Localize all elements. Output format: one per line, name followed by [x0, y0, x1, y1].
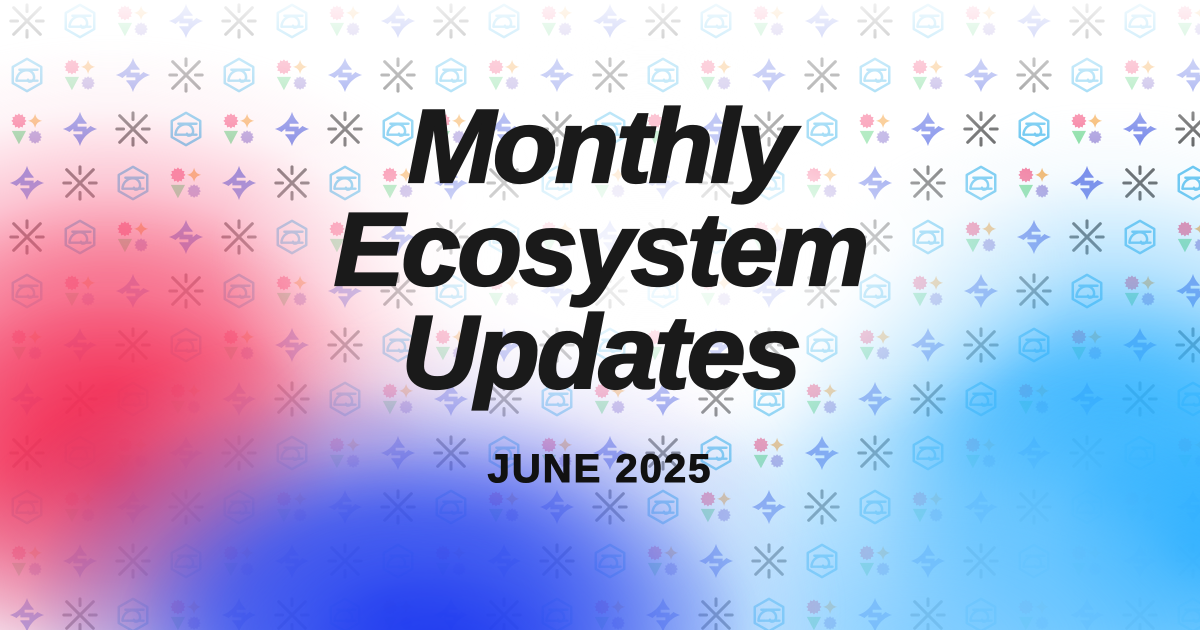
hexagon-swirl-icon: [220, 488, 258, 526]
pattern-cell: [1166, 318, 1200, 372]
diamond-arrows-icon: [114, 488, 152, 526]
asterisk-burst-icon: [220, 2, 258, 40]
pattern-cell: [954, 318, 1007, 372]
pattern-cell: [583, 426, 636, 480]
pattern-row: [0, 102, 1200, 156]
asterisk-burst-icon: [591, 272, 629, 310]
shape-cluster-icon: [1174, 218, 1200, 256]
diamond-arrows-icon: [1174, 56, 1200, 94]
diamond-arrows-icon: [432, 164, 470, 202]
shape-cluster-icon: [61, 56, 99, 94]
shape-cluster-icon: [379, 380, 417, 418]
hexagon-swirl-icon: [1015, 110, 1053, 148]
hexagon-swirl-icon: [909, 2, 947, 40]
pattern-row: [0, 534, 1200, 588]
diamond-arrows-icon: [1015, 434, 1053, 472]
shape-cluster-icon: [856, 326, 894, 364]
diamond-arrows-icon: [114, 56, 152, 94]
shape-cluster-icon: [591, 164, 629, 202]
shape-cluster-icon: [379, 164, 417, 202]
pattern-cell: [742, 588, 795, 630]
pattern-cell: [689, 48, 742, 102]
diamond-arrows-icon: [591, 434, 629, 472]
pattern-cell: [477, 588, 530, 630]
pattern-cell: [424, 156, 477, 210]
diamond-arrows-icon: [1068, 380, 1106, 418]
hexagon-swirl-icon: [485, 218, 523, 256]
asterisk-burst-icon: [750, 542, 788, 580]
pattern-cell: [212, 156, 265, 210]
pattern-cell: [477, 264, 530, 318]
pattern-cell: [636, 264, 689, 318]
pattern-cell: [1060, 156, 1113, 210]
asterisk-burst-icon: [856, 434, 894, 472]
asterisk-burst-icon: [644, 2, 682, 40]
asterisk-burst-icon: [326, 110, 364, 148]
shape-cluster-icon: [856, 110, 894, 148]
hexagon-swirl-icon: [750, 164, 788, 202]
diamond-arrows-icon: [909, 326, 947, 364]
shape-cluster-icon: [909, 488, 947, 526]
asterisk-burst-icon: [485, 380, 523, 418]
shape-cluster-icon: [591, 596, 629, 630]
pattern-cell: [1166, 0, 1200, 48]
shape-cluster-icon: [220, 326, 258, 364]
pattern-cell: [265, 318, 318, 372]
pattern-cell: [371, 588, 424, 630]
pattern-cell: [636, 0, 689, 48]
pattern-cell: [318, 156, 371, 210]
pattern-cell: [0, 534, 53, 588]
hexagon-swirl-icon: [61, 218, 99, 256]
shape-cluster-icon: [538, 218, 576, 256]
pattern-cell: [371, 0, 424, 48]
diamond-arrows-icon: [750, 272, 788, 310]
hexagon-swirl-icon: [326, 164, 364, 202]
diamond-arrows-icon: [803, 2, 841, 40]
pattern-cell: [159, 426, 212, 480]
pattern-cell: [795, 102, 848, 156]
pattern-cell: [1007, 48, 1060, 102]
asterisk-burst-icon: [591, 488, 629, 526]
diamond-arrows-icon: [326, 272, 364, 310]
shape-cluster-icon: [379, 596, 417, 630]
pattern-cell: [1007, 102, 1060, 156]
pattern-cell: [530, 48, 583, 102]
pattern-cell: [901, 102, 954, 156]
asterisk-burst-icon: [909, 164, 947, 202]
pattern-cell: [742, 318, 795, 372]
pattern-cell: [530, 210, 583, 264]
diamond-arrows-icon: [644, 596, 682, 630]
diamond-arrows-icon: [220, 164, 258, 202]
hexagon-swirl-icon: [644, 272, 682, 310]
diamond-arrows-icon: [379, 434, 417, 472]
pattern-cell: [371, 48, 424, 102]
asterisk-burst-icon: [803, 272, 841, 310]
pattern-cell: [954, 48, 1007, 102]
hexagon-swirl-icon: [326, 380, 364, 418]
asterisk-burst-icon: [1121, 596, 1159, 630]
diamond-arrows-icon: [432, 380, 470, 418]
diamond-arrows-icon: [8, 380, 46, 418]
asterisk-burst-icon: [1174, 542, 1200, 580]
diamond-arrows-icon: [538, 488, 576, 526]
pattern-cell: [265, 264, 318, 318]
pattern-cell: [1060, 318, 1113, 372]
pattern-cell: [1007, 534, 1060, 588]
hexagon-swirl-icon: [591, 110, 629, 148]
pattern-cell: [159, 480, 212, 534]
diamond-arrows-icon: [856, 380, 894, 418]
pattern-cell: [477, 102, 530, 156]
diamond-arrows-icon: [220, 380, 258, 418]
pattern-cell: [795, 534, 848, 588]
pattern-cell: [795, 318, 848, 372]
pattern-cell: [0, 210, 53, 264]
hexagon-swirl-icon: [909, 434, 947, 472]
pattern-cell: [106, 102, 159, 156]
hexagon-swirl-icon: [485, 434, 523, 472]
diamond-arrows-icon: [803, 218, 841, 256]
diamond-arrows-icon: [1068, 164, 1106, 202]
diamond-arrows-icon: [379, 218, 417, 256]
pattern-cell: [1007, 426, 1060, 480]
pattern-cell: [636, 588, 689, 630]
pattern-cell: [742, 534, 795, 588]
pattern-cell: [424, 534, 477, 588]
pattern-cell: [53, 0, 106, 48]
hexagon-swirl-icon: [856, 488, 894, 526]
asterisk-burst-icon: [1121, 164, 1159, 202]
pattern-cell: [1060, 210, 1113, 264]
asterisk-burst-icon: [220, 218, 258, 256]
pattern-cell: [1113, 264, 1166, 318]
pattern-cell: [1007, 156, 1060, 210]
asterisk-burst-icon: [856, 218, 894, 256]
pattern-cell: [689, 426, 742, 480]
hexagon-swirl-icon: [538, 380, 576, 418]
hexagon-swirl-icon: [644, 488, 682, 526]
pattern-cell: [742, 264, 795, 318]
shape-cluster-icon: [962, 434, 1000, 472]
pattern-cell: [795, 0, 848, 48]
hexagon-swirl-icon: [220, 272, 258, 310]
pattern-cell: [1113, 102, 1166, 156]
pattern-cell: [848, 588, 901, 630]
pattern-cell: [265, 534, 318, 588]
asterisk-burst-icon: [697, 596, 735, 630]
pattern-cell: [424, 264, 477, 318]
shape-cluster-icon: [697, 56, 735, 94]
pattern-row: [0, 264, 1200, 318]
asterisk-burst-icon: [644, 218, 682, 256]
hexagon-swirl-icon: [1068, 56, 1106, 94]
pattern-cell: [53, 264, 106, 318]
pattern-cell: [742, 426, 795, 480]
hexagon-swirl-icon: [1015, 542, 1053, 580]
asterisk-burst-icon: [538, 326, 576, 364]
diamond-arrows-icon: [750, 488, 788, 526]
asterisk-burst-icon: [962, 110, 1000, 148]
shape-cluster-icon: [909, 272, 947, 310]
pattern-cell: [689, 0, 742, 48]
pattern-cell: [265, 156, 318, 210]
pattern-cell: [848, 372, 901, 426]
pattern-cell: [742, 372, 795, 426]
diamond-arrows-icon: [432, 596, 470, 630]
pattern-cell: [848, 0, 901, 48]
hexagon-swirl-icon: [803, 110, 841, 148]
diamond-arrows-icon: [697, 542, 735, 580]
hexagon-swirl-icon: [273, 434, 311, 472]
pattern-cell: [1060, 480, 1113, 534]
diamond-arrows-icon: [273, 110, 311, 148]
pattern-cell: [848, 264, 901, 318]
asterisk-burst-icon: [167, 56, 205, 94]
pattern-cell: [530, 588, 583, 630]
shape-cluster-icon: [538, 2, 576, 40]
pattern-cell: [424, 48, 477, 102]
diamond-arrows-icon: [485, 326, 523, 364]
pattern-cell: [689, 534, 742, 588]
asterisk-burst-icon: [1068, 2, 1106, 40]
shape-cluster-icon: [1174, 434, 1200, 472]
hexagon-swirl-icon: [697, 218, 735, 256]
hexagon-swirl-icon: [167, 110, 205, 148]
pattern-cell: [212, 210, 265, 264]
shape-cluster-icon: [432, 326, 470, 364]
shape-cluster-icon: [1121, 272, 1159, 310]
pattern-cell: [53, 426, 106, 480]
pattern-cell: [371, 210, 424, 264]
hexagon-swirl-icon: [962, 164, 1000, 202]
diamond-arrows-icon: [273, 326, 311, 364]
asterisk-burst-icon: [803, 488, 841, 526]
pattern-cell: [530, 156, 583, 210]
diamond-arrows-icon: [8, 164, 46, 202]
pattern-cell: [53, 534, 106, 588]
pattern-cell: [106, 480, 159, 534]
hexagon-swirl-icon: [750, 596, 788, 630]
pattern-cell: [636, 318, 689, 372]
shape-cluster-icon: [909, 56, 947, 94]
pattern-cell: [583, 372, 636, 426]
pattern-cell: [954, 588, 1007, 630]
pattern-cell: [1166, 534, 1200, 588]
asterisk-burst-icon: [697, 164, 735, 202]
pattern-cell: [265, 48, 318, 102]
diamond-arrows-icon: [1068, 596, 1106, 630]
pattern-cell: [954, 156, 1007, 210]
pattern-cell: [795, 264, 848, 318]
pattern-cell: [1166, 156, 1200, 210]
shape-cluster-icon: [803, 380, 841, 418]
pattern-cell: [795, 588, 848, 630]
pattern-cell: [636, 372, 689, 426]
pattern-cell: [954, 102, 1007, 156]
pattern-cell: [318, 372, 371, 426]
hexagon-swirl-icon: [379, 542, 417, 580]
pattern-cell: [53, 588, 106, 630]
pattern-cell: [901, 318, 954, 372]
diamond-arrows-icon: [1015, 2, 1053, 40]
shape-cluster-icon: [114, 434, 152, 472]
pattern-cell: [689, 480, 742, 534]
pattern-cell: [583, 48, 636, 102]
shape-cluster-icon: [220, 542, 258, 580]
hexagon-swirl-icon: [1174, 164, 1200, 202]
pattern-cell: [318, 318, 371, 372]
pattern-cell: [1060, 102, 1113, 156]
pattern-cell: [795, 48, 848, 102]
diamond-arrows-icon: [697, 110, 735, 148]
asterisk-burst-icon: [273, 164, 311, 202]
pattern-cell: [636, 156, 689, 210]
pattern-cell: [848, 318, 901, 372]
asterisk-burst-icon: [8, 2, 46, 40]
pattern-cell: [583, 588, 636, 630]
shape-cluster-icon: [167, 380, 205, 418]
pattern-cell: [901, 210, 954, 264]
pattern-cell: [583, 318, 636, 372]
pattern-row: [0, 210, 1200, 264]
shape-cluster-icon: [167, 596, 205, 630]
diamond-arrows-icon: [220, 596, 258, 630]
pattern-cell: [106, 426, 159, 480]
asterisk-burst-icon: [114, 326, 152, 364]
diamond-arrows-icon: [8, 596, 46, 630]
diamond-arrows-icon: [909, 542, 947, 580]
pattern-cell: [689, 264, 742, 318]
pattern-cell: [0, 588, 53, 630]
pattern-cell: [689, 588, 742, 630]
pattern-cell: [1060, 426, 1113, 480]
diamond-arrows-icon: [591, 218, 629, 256]
asterisk-burst-icon: [803, 56, 841, 94]
ecosystem-updates-banner: Monthly Ecosystem Updates JUNE 2025: [0, 0, 1200, 630]
pattern-cell: [636, 534, 689, 588]
diamond-arrows-icon: [962, 272, 1000, 310]
pattern-cell: [1166, 480, 1200, 534]
pattern-cell: [583, 210, 636, 264]
diamond-arrows-icon: [644, 164, 682, 202]
pattern-cell: [848, 102, 901, 156]
shape-cluster-icon: [962, 218, 1000, 256]
hexagon-swirl-icon: [167, 326, 205, 364]
hexagon-swirl-icon: [856, 56, 894, 94]
shape-cluster-icon: [114, 2, 152, 40]
diamond-arrows-icon: [485, 542, 523, 580]
asterisk-burst-icon: [485, 164, 523, 202]
asterisk-burst-icon: [61, 380, 99, 418]
hexagon-swirl-icon: [962, 380, 1000, 418]
pattern-cell: [742, 210, 795, 264]
pattern-cell: [1060, 372, 1113, 426]
pattern-cell: [424, 0, 477, 48]
pattern-cell: [318, 588, 371, 630]
hexagon-swirl-icon: [8, 56, 46, 94]
shape-cluster-icon: [1015, 596, 1053, 630]
asterisk-burst-icon: [1068, 218, 1106, 256]
pattern-cell: [318, 480, 371, 534]
pattern-cell: [848, 210, 901, 264]
pattern-cell: [265, 588, 318, 630]
pattern-cell: [212, 588, 265, 630]
pattern-cell: [477, 426, 530, 480]
asterisk-burst-icon: [1121, 380, 1159, 418]
pattern-cell: [424, 588, 477, 630]
pattern-cell: [265, 102, 318, 156]
shape-cluster-icon: [220, 110, 258, 148]
diamond-arrows-icon: [61, 110, 99, 148]
pattern-cell: [689, 318, 742, 372]
pattern-cell: [1007, 318, 1060, 372]
pattern-cell: [371, 264, 424, 318]
pattern-cell: [1113, 48, 1166, 102]
pattern-cell: [53, 372, 106, 426]
pattern-row: [0, 426, 1200, 480]
pattern-cell: [636, 102, 689, 156]
pattern-cell: [53, 102, 106, 156]
pattern-cell: [106, 318, 159, 372]
shape-cluster-icon: [750, 434, 788, 472]
pattern-cell: [159, 48, 212, 102]
pattern-cell: [212, 0, 265, 48]
pattern-cell: [1007, 588, 1060, 630]
background-icon-pattern: [0, 0, 1200, 630]
pattern-cell: [106, 156, 159, 210]
asterisk-burst-icon: [114, 110, 152, 148]
shape-cluster-icon: [750, 218, 788, 256]
asterisk-burst-icon: [591, 56, 629, 94]
pattern-cell: [424, 372, 477, 426]
diamond-arrows-icon: [485, 110, 523, 148]
pattern-cell: [583, 480, 636, 534]
hexagon-swirl-icon: [114, 164, 152, 202]
shape-cluster-icon: [697, 272, 735, 310]
hexagon-swirl-icon: [697, 434, 735, 472]
pattern-cell: [795, 210, 848, 264]
diamond-arrows-icon: [379, 2, 417, 40]
diamond-arrows-icon: [856, 596, 894, 630]
diamond-arrows-icon: [167, 434, 205, 472]
pattern-row: [0, 318, 1200, 372]
shape-cluster-icon: [1015, 164, 1053, 202]
shape-cluster-icon: [485, 272, 523, 310]
pattern-cell: [0, 372, 53, 426]
pattern-cell: [159, 102, 212, 156]
pattern-cell: [424, 480, 477, 534]
pattern-cell: [583, 0, 636, 48]
pattern-cell: [1113, 534, 1166, 588]
pattern-cell: [848, 534, 901, 588]
pattern-cell: [954, 534, 1007, 588]
diamond-arrows-icon: [273, 542, 311, 580]
asterisk-burst-icon: [432, 218, 470, 256]
asterisk-burst-icon: [379, 56, 417, 94]
shape-cluster-icon: [114, 218, 152, 256]
hexagon-swirl-icon: [220, 56, 258, 94]
diamond-arrows-icon: [856, 164, 894, 202]
hexagon-swirl-icon: [379, 110, 417, 148]
asterisk-burst-icon: [8, 218, 46, 256]
pattern-cell: [530, 0, 583, 48]
pattern-cell: [53, 210, 106, 264]
pattern-cell: [371, 480, 424, 534]
shape-cluster-icon: [485, 56, 523, 94]
pattern-cell: [371, 102, 424, 156]
